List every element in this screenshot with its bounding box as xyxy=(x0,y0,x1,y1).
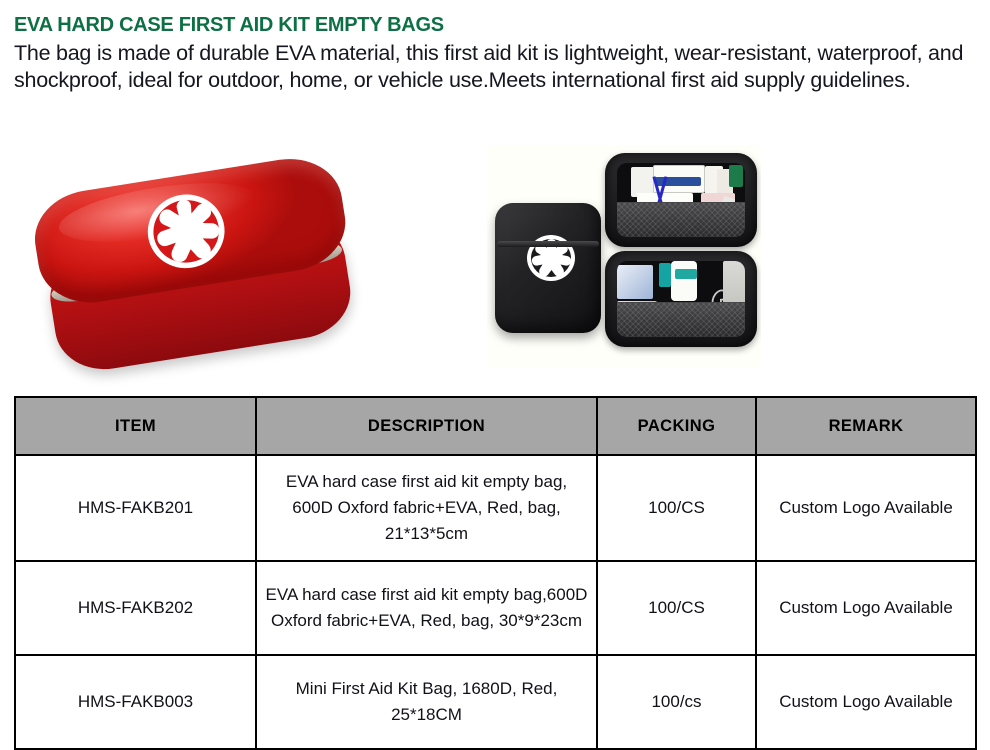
red-case-illustration xyxy=(28,151,367,397)
column-header-item: ITEM xyxy=(15,397,256,455)
cell-description: Mini First Aid Kit Bag, 1680D, Red, 25*1… xyxy=(256,655,597,749)
bandage-label xyxy=(675,269,697,279)
base-elastic-mesh-pocket xyxy=(617,302,745,337)
lid-contents xyxy=(617,163,745,237)
medical-star-of-life-icon xyxy=(137,185,234,277)
table-header-row: ITEM DESCRIPTION PACKING REMARK xyxy=(15,397,976,455)
lid-elastic-mesh-pocket xyxy=(617,202,745,237)
column-header-remark: REMARK xyxy=(756,397,976,455)
black-case-zipper-seam xyxy=(497,241,599,247)
black-case-closed xyxy=(495,203,601,333)
cell-remark: Custom Logo Available xyxy=(756,561,976,655)
black-case-base xyxy=(605,251,757,347)
cell-item: HMS-FAKB201 xyxy=(15,455,256,561)
black-case-lid xyxy=(605,153,757,247)
product-image-gallery xyxy=(0,140,990,390)
cell-packing: 100/CS xyxy=(597,455,756,561)
teal-cap-bottle xyxy=(659,263,671,287)
column-header-packing: PACKING xyxy=(597,397,756,455)
cell-description: EVA hard case first aid kit empty bag,60… xyxy=(256,561,597,655)
product-spec-table: ITEM DESCRIPTION PACKING REMARK HMS-FAKB… xyxy=(14,396,977,750)
cell-description: EVA hard case first aid kit empty bag, 6… xyxy=(256,455,597,561)
cell-packing: 100/CS xyxy=(597,561,756,655)
blue-print-wipe-pack xyxy=(617,265,653,299)
cell-remark: Custom Logo Available xyxy=(756,455,976,561)
cell-item: HMS-FAKB003 xyxy=(15,655,256,749)
table-row: HMS-FAKB201 EVA hard case first aid kit … xyxy=(15,455,976,561)
cell-packing: 100/cs xyxy=(597,655,756,749)
red-eva-hard-case-photo xyxy=(34,158,364,386)
table-row: HMS-FAKB202 EVA hard case first aid kit … xyxy=(15,561,976,655)
black-case-open xyxy=(605,153,757,347)
column-header-description: DESCRIPTION xyxy=(256,397,597,455)
product-description: The bag is made of durable EVA material,… xyxy=(14,40,980,94)
cell-item: HMS-FAKB202 xyxy=(15,561,256,655)
bandage-roll xyxy=(671,261,697,301)
cell-remark: Custom Logo Available xyxy=(756,655,976,749)
base-contents xyxy=(617,261,745,337)
black-eva-kit-photo xyxy=(487,145,761,367)
table-row: HMS-FAKB003 Mini First Aid Kit Bag, 1680… xyxy=(15,655,976,749)
page-title: EVA HARD CASE FIRST AID KIT EMPTY BAGS xyxy=(14,13,974,37)
green-pack xyxy=(729,165,743,187)
